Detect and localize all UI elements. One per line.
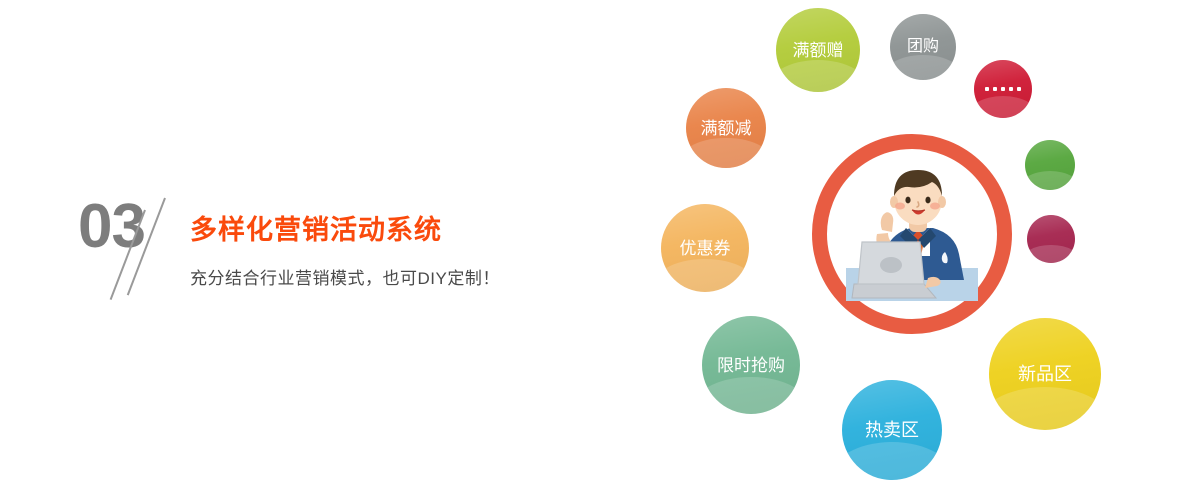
bubble-ellipsis[interactable] [974,60,1032,118]
businessman-at-laptop-icon [836,160,988,308]
bubble-tuan-gou[interactable]: 团购 [890,14,956,80]
bubble-re-mai-qu[interactable]: 热卖区 [842,380,942,480]
bubble-man-e-zeng[interactable]: 满额赠 [776,8,860,92]
page-title: 多样化营销活动系统 [190,208,442,247]
section-text-block: 03 多样化营销活动系统 充分结合行业营销模式，也可DIY定制！ [0,0,640,480]
bubble-man-e-jian[interactable]: 满额减 [686,88,766,168]
ellipsis-dots-icon [985,87,1021,91]
bubble-label: 新品区 [1018,365,1072,383]
page-subtitle: 充分结合行业营销模式，也可DIY定制！ [190,264,500,289]
bubble-you-hui-quan[interactable]: 优惠券 [661,204,749,292]
bubble-label: 满额赠 [793,42,844,59]
bubble-xian-shi[interactable]: 限时抢购 [702,316,800,414]
bubble-label: 团购 [907,39,939,55]
bubble-label: 限时抢购 [717,357,785,374]
bubble-green-dot[interactable] [1025,140,1075,190]
marketing-bubble-diagram: 满额赠团购满额减优惠券限时抢购新品区热卖区 [640,0,1202,480]
bubble-xin-pin-qu[interactable]: 新品区 [989,318,1101,430]
bubble-label: 优惠券 [680,240,731,257]
bubble-magenta-dot[interactable] [1027,215,1075,263]
marketing-banner: 03 多样化营销活动系统 充分结合行业营销模式，也可DIY定制！ 满额赠团购满额… [0,0,1202,480]
bubble-label: 满额减 [701,120,752,137]
bubble-label: 热卖区 [865,421,919,439]
section-number: 03 [78,196,145,258]
